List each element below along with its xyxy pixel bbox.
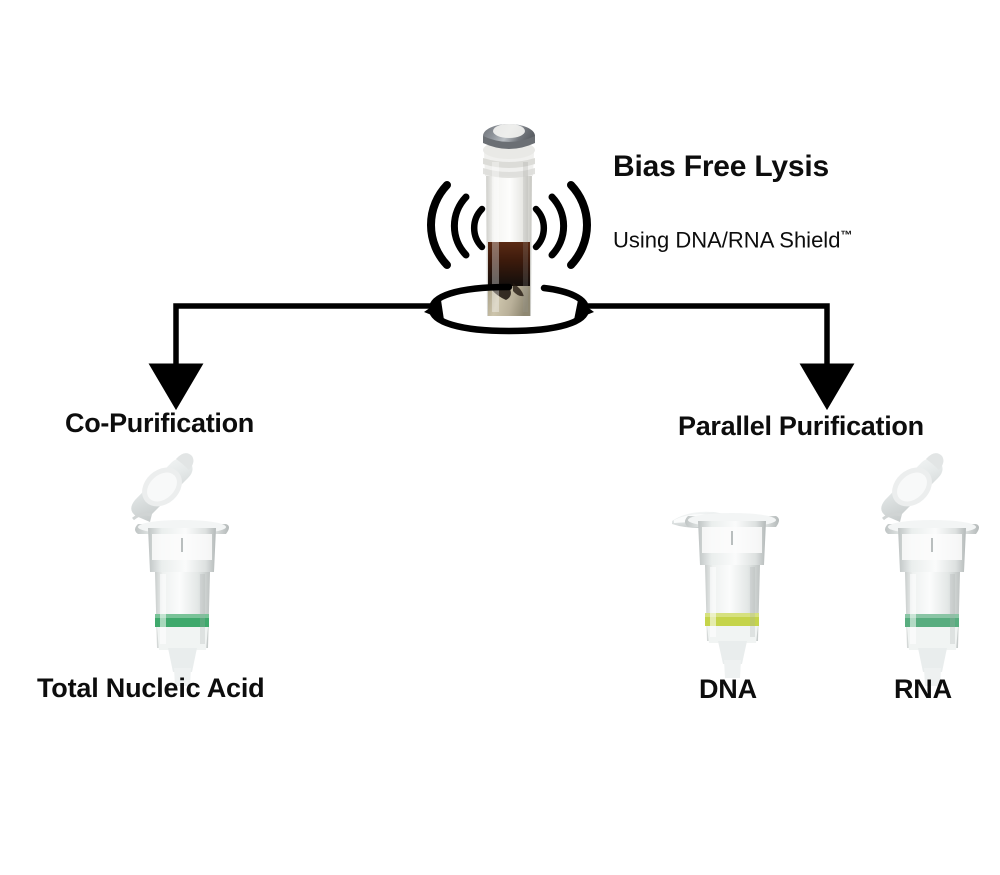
subtitle: Using DNA/RNA Shield™ [613, 229, 852, 251]
product-label-dna: DNA [699, 676, 757, 703]
column-lid-open [881, 453, 943, 522]
branch-label-parallel-purification: Parallel Purification [678, 413, 924, 440]
vibration-arcs-right [536, 185, 587, 265]
trademark-symbol: ™ [840, 228, 852, 242]
rna-column [881, 453, 979, 686]
connector-right-arrow [588, 306, 827, 370]
product-label-rna: RNA [894, 676, 952, 703]
page-title: Bias Free Lysis [613, 152, 829, 182]
total-nucleic-acid-column [131, 453, 229, 686]
vibration-arcs-left [431, 185, 482, 265]
subtitle-text: Using DNA/RNA Shield [613, 227, 840, 252]
product-label-total-nucleic-acid: Total Nucleic Acid [37, 675, 264, 702]
dna-column [672, 512, 779, 678]
column-lid-open [131, 453, 193, 522]
workflow-diagram: Bias Free Lysis Using DNA/RNA Shield™ Co… [0, 0, 1000, 875]
branch-label-co-purification: Co-Purification [65, 410, 254, 437]
connector-left-arrow [176, 306, 430, 370]
